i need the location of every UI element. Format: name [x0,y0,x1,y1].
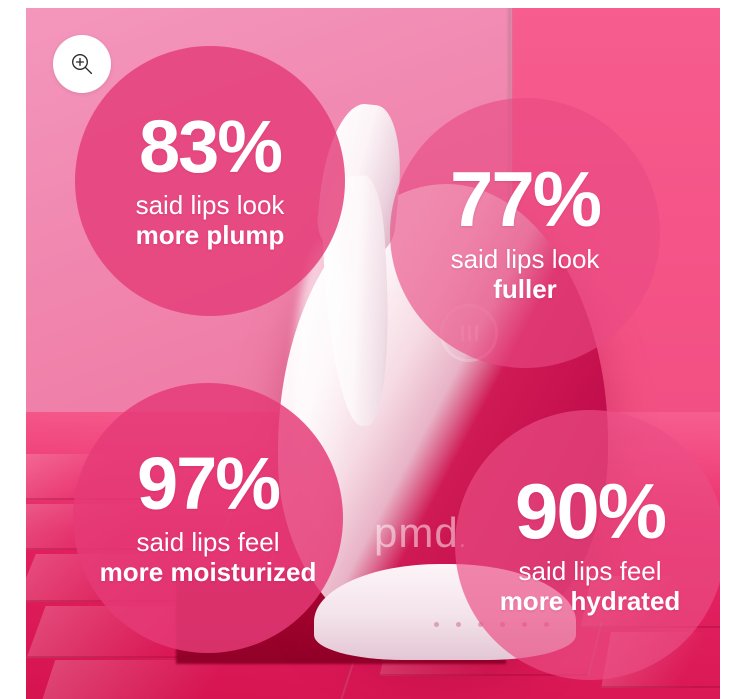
page-frame-right [720,0,746,699]
stat-bubble-hydrated: 90% said lips feel more hydrated [455,410,720,680]
stat-line-2: more plump [136,220,285,251]
stat-bubble-fuller: 77% said lips look fuller [390,98,660,368]
page-frame-top [0,0,746,8]
zoom-in-button[interactable] [53,35,111,93]
pmd-wordmark: pmd. [374,512,467,554]
stat-bubble-moisturized: 97% said lips feel more moisturized [73,383,343,653]
stat-line-1: said lips feel [518,556,661,587]
stat-percent: 90% [515,473,665,549]
stat-percent: 97% [137,448,279,521]
pmd-wordmark-text: pmd [374,509,459,556]
stat-line-1: said lips look [136,190,285,221]
stat-line-2: more hydrated [500,586,681,617]
product-image-viewport: pmd. 83% said lips look more plump 77% s… [0,0,746,699]
stat-line-1: said lips feel [136,527,279,558]
page-frame-left [0,0,26,699]
stat-percent: 83% [139,111,281,184]
product-photo[interactable]: pmd. 83% said lips look more plump 77% s… [26,8,720,699]
stat-line-2: fuller [493,274,557,305]
stat-line-2: more moisturized [100,557,317,588]
floor-tile [37,660,355,699]
magnifier-plus-icon [69,51,95,77]
stat-percent: 77% [450,161,600,237]
stat-line-1: said lips look [451,244,600,275]
stat-bubble-plump: 83% said lips look more plump [75,46,345,316]
